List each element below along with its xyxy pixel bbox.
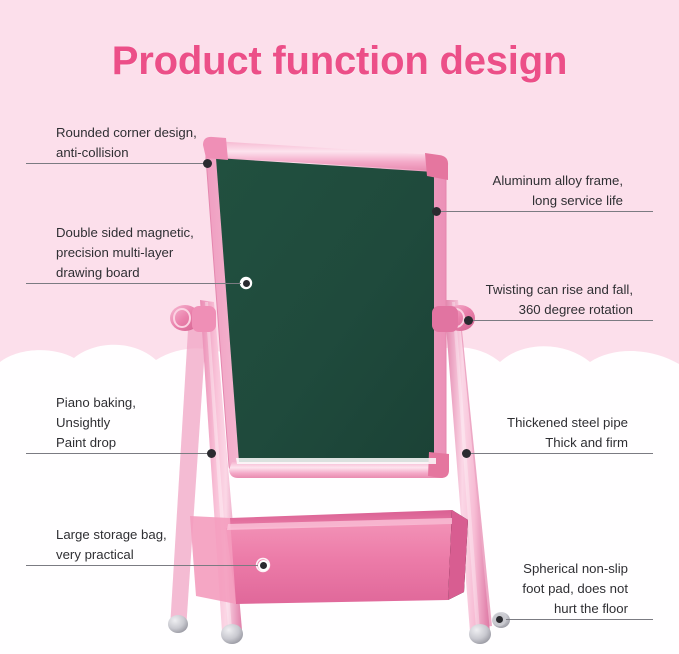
leader-large-storage-bag <box>26 565 260 566</box>
callout-double-sided-magnetic: Double sided magnetic, precision multi-l… <box>56 223 256 283</box>
callout-twisting-rise-fall: Twisting can rise and fall, 360 degree r… <box>453 280 633 320</box>
leader-rounded-corner <box>26 163 208 164</box>
leader-twisting-rise-fall <box>468 320 653 321</box>
callout-large-storage-bag: Large storage bag, very practical <box>56 525 266 565</box>
callout-thickened-steel-pipe: Thickened steel pipe Thick and firm <box>448 413 628 453</box>
leader-piano-baking <box>26 453 210 454</box>
callout-aluminum-alloy-frame: Aluminum alloy frame, long service life <box>443 171 623 211</box>
leader-spherical-foot-pad <box>498 619 653 620</box>
rotation-knob-left <box>170 305 216 332</box>
leader-thickened-steel-pipe <box>466 453 653 454</box>
anchor-dot-aluminum-alloy-frame <box>432 207 441 216</box>
product-infographic: Product function design <box>0 0 679 654</box>
callout-piano-baking: Piano baking, Unsightly Paint drop <box>56 393 256 453</box>
callout-rounded-corner: Rounded corner design, anti-collision <box>56 123 256 163</box>
leader-double-sided-magnetic <box>26 283 242 284</box>
callout-spherical-foot-pad: Spherical non-slip foot pad, does not hu… <box>448 559 628 619</box>
leader-aluminum-alloy-frame <box>436 211 653 212</box>
